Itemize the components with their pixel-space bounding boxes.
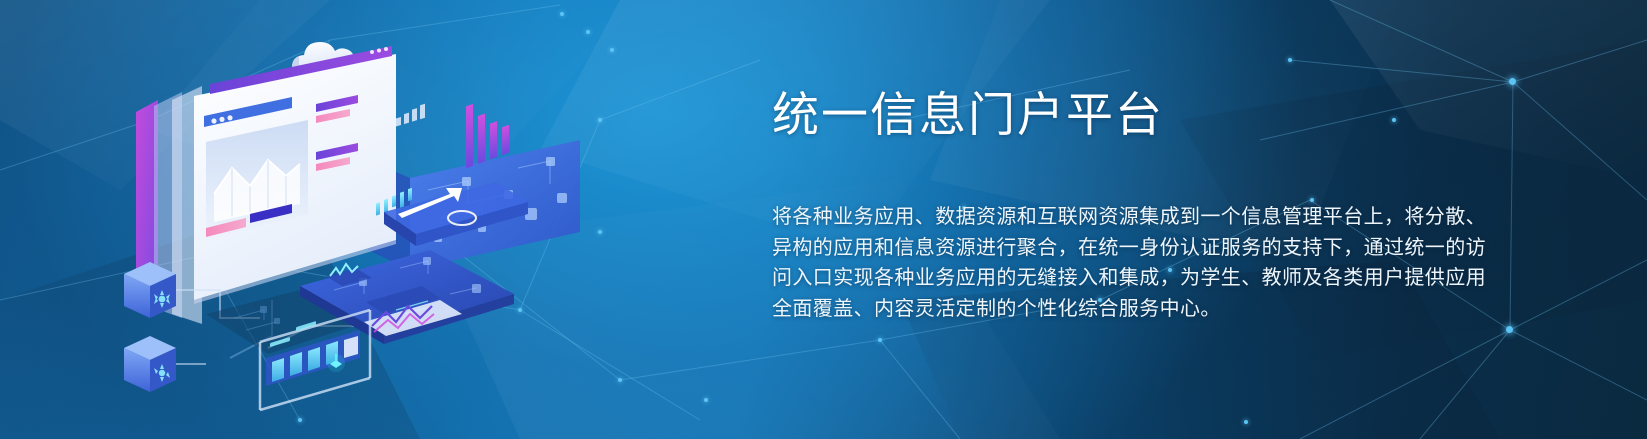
network-node-dot — [598, 230, 602, 234]
network-node-dot — [878, 338, 882, 342]
network-node-dot — [1288, 58, 1292, 62]
network-node-dot — [704, 398, 708, 402]
banner-text-block: 统一信息门户平台 将各种业务应用、数据资源和互联网资源集成到一个信息管理平台上，… — [772, 86, 1472, 324]
network-node-dot — [1509, 78, 1516, 85]
description-line: 全面覆盖、内容灵活定制的个性化综合服务中心。 — [772, 294, 1472, 325]
page-title: 统一信息门户平台 — [772, 86, 1472, 144]
isometric-data-platform-illustration — [110, 18, 580, 418]
network-node-dot — [1244, 420, 1248, 424]
network-node-dot — [586, 30, 590, 34]
database-cube-icon — [124, 336, 176, 392]
network-node-dot — [610, 48, 614, 52]
network-node-dot — [560, 12, 564, 16]
description-line: 问入口实现各种业务应用的无缝接入和集成，为学生、教师及各类用户提供应用 — [772, 263, 1472, 294]
network-node-dot — [598, 118, 602, 122]
network-node-dot — [618, 378, 622, 382]
hero-banner: 统一信息门户平台 将各种业务应用、数据资源和互联网资源集成到一个信息管理平台上，… — [0, 0, 1647, 439]
banner-description: 将各种业务应用、数据资源和互联网资源集成到一个信息管理平台上，将分散、 异构的应… — [772, 202, 1472, 324]
glow-chip-icon — [327, 354, 345, 372]
description-line: 将各种业务应用、数据资源和互联网资源集成到一个信息管理平台上，将分散、 — [772, 202, 1472, 233]
network-node-dot — [298, 418, 302, 422]
description-line: 异构的应用和信息资源进行聚合，在统一身份认证服务的支持下，通过统一的访 — [772, 233, 1472, 264]
network-node-dot — [1506, 326, 1513, 333]
